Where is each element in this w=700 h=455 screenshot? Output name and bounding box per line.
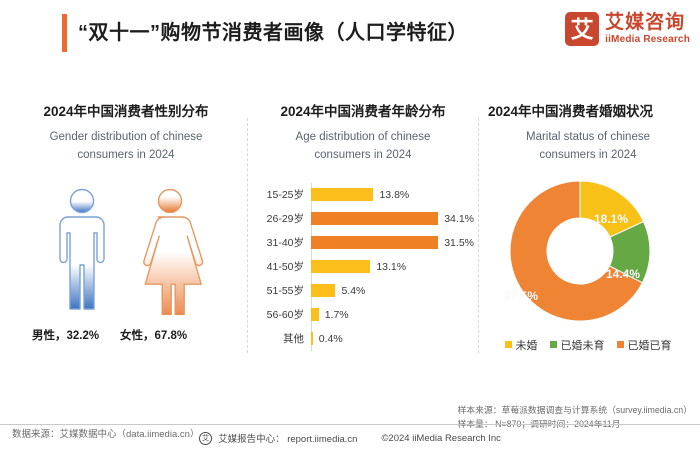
bar-track: 0.4% — [311, 327, 474, 351]
legend-label: 已婚已育 — [628, 337, 672, 353]
legend-swatch-icon — [505, 341, 512, 348]
gender-pictograms — [8, 187, 244, 317]
bar-row: 31-40岁31.5% — [252, 231, 474, 255]
page-header: “双十一”购物节消费者画像（人口学特征） 艾 艾媒咨询 iiMedia Rese… — [0, 0, 700, 66]
age-title-en: Age distribution of chinese consumers in… — [252, 128, 474, 165]
female-pictogram-icon — [130, 187, 210, 315]
bar-track: 1.7% — [311, 303, 474, 327]
legend-swatch-icon — [550, 341, 557, 348]
marital-title-en-line2: consumers in 2024 — [482, 146, 694, 164]
bar-category-label: 56-60岁 — [252, 307, 311, 322]
bar-row: 41-50岁13.1% — [252, 255, 474, 279]
donut-slice-label: 14.4% — [606, 267, 640, 281]
legend-swatch-icon — [617, 341, 624, 348]
bar-category-label: 其他 — [252, 331, 311, 346]
male-figure — [46, 187, 118, 320]
iimedia-logo-icon: 艾 — [565, 12, 599, 46]
bar-row: 51-55岁5.4% — [252, 279, 474, 303]
title-accent-bar — [62, 14, 67, 52]
bar-category-label: 15-25岁 — [252, 187, 311, 202]
donut-slice-label: 18.1% — [594, 212, 628, 226]
gender-title-en-line2: consumers in 2024 — [8, 146, 244, 164]
marital-title-cn: 2024年中国消费者婚姻状况 — [482, 100, 694, 120]
brand-logo: 艾 艾媒咨询 iiMedia Research — [565, 12, 690, 46]
bar-category-label: 41-50岁 — [252, 259, 311, 274]
bar-row: 26-29岁34.1% — [252, 207, 474, 231]
marital-title-en: Marital status of chinese consumers in 2… — [482, 128, 694, 165]
panel-marital-status: 2024年中国消费者婚姻状况 Marital status of chinese… — [482, 100, 694, 365]
age-title-en-line2: consumers in 2024 — [252, 146, 474, 164]
donut-slice-label: 67.5% — [504, 289, 538, 303]
marital-donut-chart: 18.1%14.4%67.5% — [482, 179, 694, 329]
footer-divider — [0, 424, 700, 425]
legend-item[interactable]: 已婚未育 — [550, 337, 605, 353]
bar-fill — [311, 308, 319, 321]
panel-divider-2 — [478, 118, 479, 353]
iimedia-small-logo-icon: 艾 — [199, 432, 212, 445]
bar-value-label: 0.4% — [319, 333, 343, 345]
bar-value-label: 34.1% — [444, 213, 474, 225]
gender-title-cn: 2024年中国消费者性别分布 — [8, 100, 244, 120]
marital-title-en-line1: Marital status of chinese — [482, 128, 694, 146]
bar-category-label: 26-29岁 — [252, 211, 311, 226]
gender-labels: 男性，32.2% 女性，67.8% — [8, 327, 244, 349]
sample-source-text: 样本来源：草莓派数据调查与计算系统（survey.iimedia.cn） — [458, 404, 692, 418]
bar-value-label: 13.1% — [376, 261, 406, 273]
gender-title-en: Gender distribution of chinese consumers… — [8, 128, 244, 165]
bar-fill — [311, 284, 335, 297]
age-title-cn: 2024年中国消费者年龄分布 — [252, 100, 474, 120]
bar-track: 34.1% — [311, 207, 474, 231]
bar-value-label: 13.8% — [379, 189, 409, 201]
male-pictogram-icon — [46, 187, 118, 315]
bar-value-label: 5.4% — [341, 285, 365, 297]
bar-row: 15-25岁13.8% — [252, 183, 474, 207]
bar-track: 13.8% — [311, 183, 474, 207]
legend-item[interactable]: 已婚已育 — [617, 337, 672, 353]
legend-label: 未婚 — [516, 337, 538, 353]
panel-divider-1 — [247, 118, 248, 353]
footer-bar: 艾 艾媒报告中心： report.iimedia.cn ©2024 iiMedi… — [0, 431, 700, 445]
legend-item[interactable]: 未婚 — [505, 337, 538, 353]
panel-age-distribution: 2024年中国消费者年龄分布 Age distribution of chine… — [252, 100, 474, 365]
bar-category-label: 31-40岁 — [252, 235, 311, 250]
bar-fill — [311, 212, 438, 225]
age-bar-chart: 15-25岁13.8%26-29岁34.1%31-40岁31.5%41-50岁1… — [252, 183, 474, 351]
female-value-label: 女性，67.8% — [120, 327, 187, 343]
legend-label: 已婚未育 — [561, 337, 605, 353]
brand-name-cn: 艾媒咨询 — [605, 13, 690, 32]
bar-row: 其他0.4% — [252, 327, 474, 351]
bar-track: 31.5% — [311, 231, 474, 255]
bar-fill — [311, 188, 373, 201]
brand-name-en: iiMedia Research — [605, 35, 690, 45]
bar-category-label: 51-55岁 — [252, 283, 311, 298]
bar-fill — [311, 236, 438, 249]
bar-value-label: 31.5% — [444, 237, 474, 249]
bar-fill — [311, 260, 370, 273]
male-value-label: 男性，32.2% — [32, 327, 99, 343]
copyright-text: ©2024 iiMedia Research Inc — [381, 433, 500, 444]
marital-legend: 未婚已婚未育已婚已育 — [482, 337, 694, 353]
bar-track: 13.1% — [311, 255, 474, 279]
bar-row: 56-60岁1.7% — [252, 303, 474, 327]
panel-gender-distribution: 2024年中国消费者性别分布 Gender distribution of ch… — [8, 100, 244, 365]
report-center-link[interactable]: 艾媒报告中心： report.iimedia.cn — [218, 431, 357, 445]
bar-fill — [311, 332, 313, 345]
brand-text: 艾媒咨询 iiMedia Research — [605, 13, 690, 45]
age-title-en-line1: Age distribution of chinese — [252, 128, 474, 146]
sample-source-block: 样本来源：草莓派数据调查与计算系统（survey.iimedia.cn） 样本量… — [458, 404, 692, 431]
donut-svg — [504, 177, 672, 329]
female-figure — [130, 187, 210, 320]
bar-track: 5.4% — [311, 279, 474, 303]
bar-value-label: 1.7% — [325, 309, 349, 321]
gender-title-en-line1: Gender distribution of chinese — [8, 128, 244, 146]
page-title: “双十一”购物节消费者画像（人口学特征） — [78, 16, 468, 45]
